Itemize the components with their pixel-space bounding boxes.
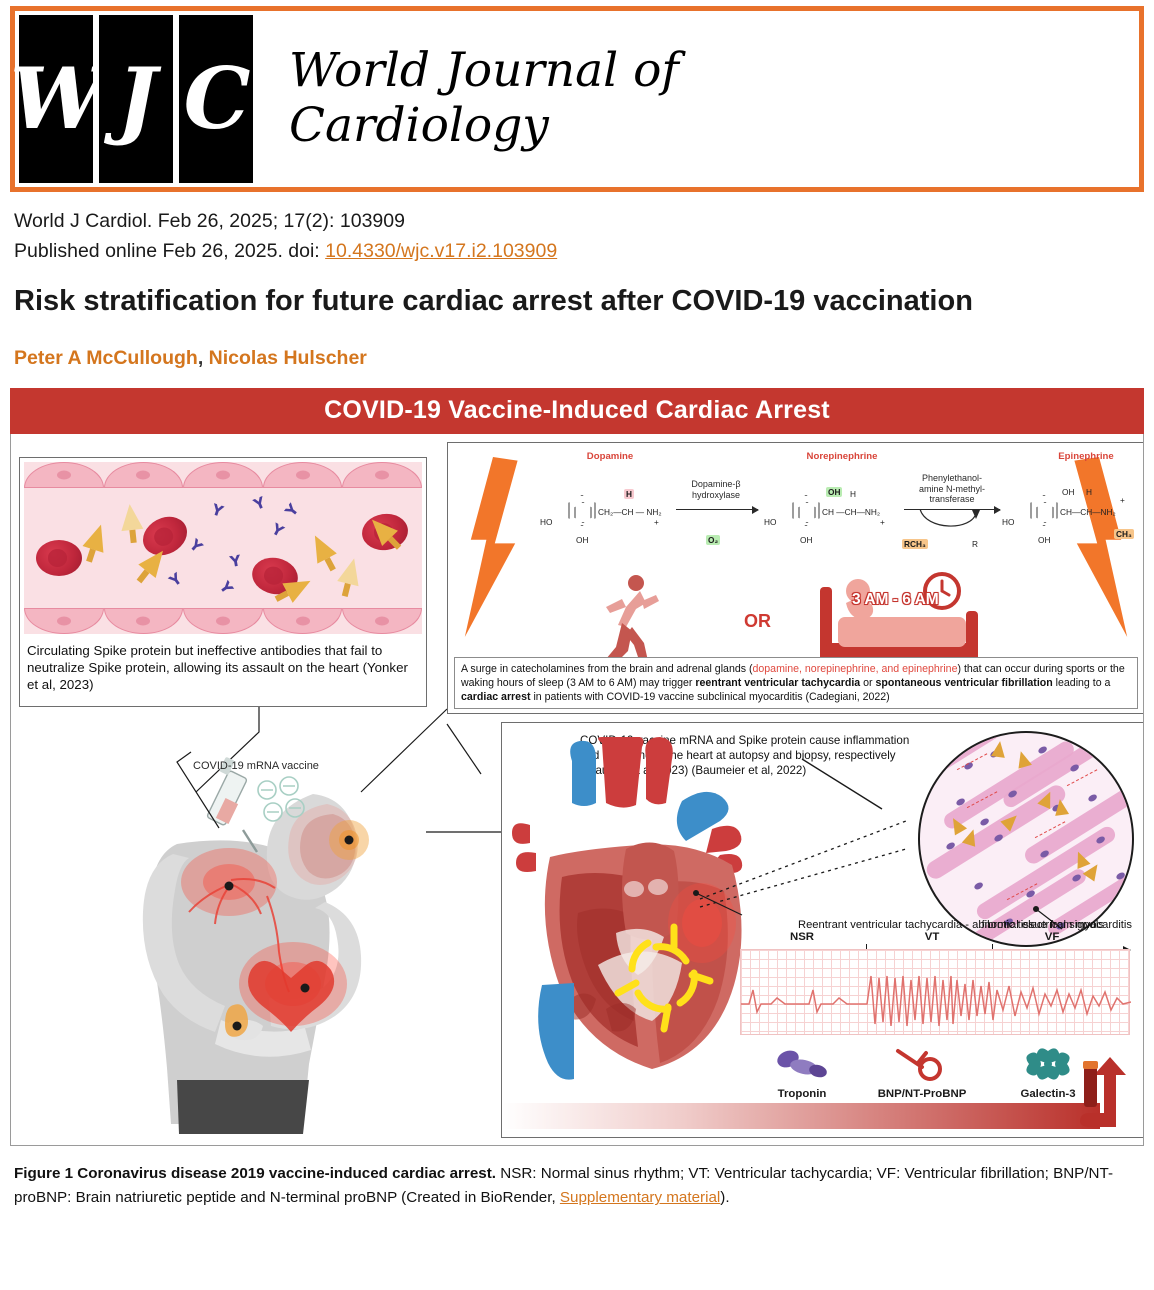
endothelium-top: [24, 462, 422, 488]
epi-ho-label: HO: [1002, 517, 1014, 527]
citation-block: World J Cardiol. Feb 26, 2025; 17(2): 10…: [14, 206, 1154, 266]
reaction-arrow-1: [676, 509, 758, 510]
substrate-rch3: RCH₃: [902, 539, 928, 549]
epi-charge: +: [1120, 495, 1125, 505]
published-prefix: Published online Feb 26, 2025. doi:: [14, 240, 325, 262]
cofactor-o2: O₂: [706, 535, 720, 545]
spike-protein: [1053, 798, 1069, 816]
journal-title-line1: World Journal of: [289, 44, 1139, 99]
molecule-label-dopamine: Dopamine: [587, 451, 633, 462]
antibody-icon: Y: [229, 553, 245, 569]
spike-protein: [305, 530, 337, 563]
figure-caption: Figure 1 Coronavirus disease 2019 vaccin…: [14, 1162, 1140, 1211]
ecg-trace-box: [740, 949, 1130, 1035]
nor-h-label: H: [850, 489, 856, 499]
published-online-line: Published online Feb 26, 2025. doi: 10.4…: [14, 236, 1154, 266]
enzyme-1: Dopamine-β hydroxylase: [691, 479, 740, 500]
author-list: Peter A McCullough, Nicolas Hulscher: [14, 347, 1154, 370]
citation-line: World J Cardiol. Feb 26, 2025; 17(2): 10…: [14, 206, 1154, 236]
catecholamine-panel-caption: A surge in catecholamines from the brain…: [454, 657, 1138, 709]
epi-oh-label: OH: [1038, 535, 1050, 545]
logo-letter-j: J: [117, 57, 155, 141]
endothelial-cell: [24, 462, 104, 488]
epi-h-top: H: [1086, 487, 1092, 497]
molecule-label-epinephrine: Epinephrine: [1058, 451, 1113, 462]
heart-cross-section-illustration: [506, 737, 806, 1089]
caption-run-normal: or: [860, 677, 875, 689]
benzene-ring: [1031, 495, 1058, 526]
spike-protein: [83, 521, 112, 553]
benzene-ring: [793, 495, 820, 526]
caption-run-normal: leading to a: [1053, 677, 1111, 689]
antibody-icon: Y: [270, 522, 289, 541]
supplementary-material-link[interactable]: Supplementary material: [560, 1189, 720, 1206]
author-link-1[interactable]: Peter A McCullough: [14, 347, 198, 369]
caption-run-bold: cardiac arrest: [461, 691, 531, 703]
cofactor-curve: [916, 509, 986, 537]
galectin-3-icon: [1023, 1047, 1073, 1081]
histology-inset-circle: [918, 731, 1134, 947]
dopamine-ho-label: HO: [540, 517, 552, 527]
endothelial-cell: [104, 462, 184, 488]
molecule-dopamine: [569, 495, 596, 526]
severity-gradient-bar: [502, 1103, 1100, 1129]
caption-run-normal: in patients with COVID-19 vaccine subcli…: [531, 691, 890, 703]
clock-time-label: 3 AM - 6 AM: [852, 591, 939, 609]
nor-oh-label: OH: [800, 535, 812, 545]
figure-caption-text-2: ).: [720, 1189, 729, 1206]
enzyme-2: Phenylethanol- amine N-methyl- transfera…: [919, 473, 985, 505]
catecholamine-pathway: Dopamine HO OH CH₂—CH — NH₂ H + Dopamine…: [520, 451, 1072, 575]
ecg-waveform: [741, 950, 1131, 1036]
vessel-illustration: Y Y Y Y Y Y Y Y: [24, 462, 422, 634]
endothelial-cell: [342, 462, 422, 488]
article-title: Risk stratification for future cardiac a…: [14, 282, 1054, 321]
logo-block-w: W: [19, 15, 93, 183]
antibody-icon: Y: [283, 499, 303, 519]
enzyme-1-line2: hydroxylase: [691, 490, 740, 501]
biomarker-label-troponin: Troponin: [742, 1088, 862, 1100]
lightning-bolt-icon: [1072, 457, 1132, 637]
patient-illustration: COVID-19 mRNA vaccine: [81, 734, 481, 1134]
caption-run-bold: reentrant ventricular tachycardia: [695, 677, 860, 689]
figure-banner-title: COVID-19 Vaccine-Induced Cardiac Arrest: [10, 388, 1144, 434]
figure-1: COVID-19 Vaccine-Induced Cardiac Arrest: [10, 388, 1144, 1146]
epi-chain: CH—CH—NH₂: [1060, 507, 1116, 517]
ecg-label-vf: VF: [1045, 931, 1060, 943]
fibrosis-marker: [1067, 769, 1099, 789]
wjc-logo: W J C: [15, 11, 253, 187]
antibody-icon: Y: [217, 579, 237, 599]
logo-letter-c: C: [184, 57, 249, 141]
biomarker-label-bnp: BNP/NT-ProBNP: [862, 1088, 982, 1100]
dopamine-oh-label: OH: [576, 535, 588, 545]
molecule-epinephrine: [1031, 495, 1058, 526]
endothelial-cell: [183, 462, 263, 488]
epi-oh-top: OH: [1062, 487, 1074, 497]
cell-nucleus: [973, 881, 984, 890]
benzene-ring: [569, 495, 596, 526]
nor-highlight-oh: OH: [826, 487, 842, 497]
journal-title: World Journal of Cardiology: [253, 11, 1139, 187]
spike-protein: [337, 556, 365, 587]
ecg-label-vt: VT: [925, 931, 940, 943]
molecule-norepinephrine: [793, 495, 820, 526]
cell-nucleus: [1087, 793, 1098, 802]
running-person-icon: [596, 573, 668, 669]
journal-title-line2: Cardiology: [289, 99, 1139, 154]
enzyme-1-line1: Dopamine-β: [691, 479, 740, 490]
vessel-panel-caption: Circulating Spike protein but ineffectiv…: [20, 638, 426, 696]
troponin-icon: [772, 1047, 832, 1081]
endothelium-bottom: [24, 608, 422, 634]
biomarker-troponin: Troponin: [742, 1047, 862, 1100]
figure-body: Y Y Y Y Y Y Y Y Circulating Spike protei…: [10, 434, 1144, 1146]
dopamine-highlight-h: H: [624, 489, 634, 499]
logo-block-c: C: [179, 15, 253, 183]
enzyme-2-line1: Phenylethanol-: [919, 473, 985, 484]
enzyme-2-line3: transferase: [919, 494, 985, 505]
panel-catecholamine-surge: Dopamine HO OH CH₂—CH — NH₂ H + Dopamine…: [447, 442, 1144, 714]
antibody-icon: Y: [252, 494, 270, 512]
biomarker-bnp: BNP/NT-ProBNP: [862, 1047, 982, 1100]
caption-run-normal: A surge in catecholamines from the brain…: [461, 663, 753, 675]
spike-protein: [119, 503, 144, 531]
spike-protein: [991, 740, 1007, 758]
panel-heart-ecg: COVID-19 vaccine mRNA and Spike protein …: [501, 722, 1144, 1138]
caption-run-bold: spontaneous ventricular fibrillation: [876, 677, 1053, 689]
enzyme-2-line2: amine N-methyl-: [919, 484, 985, 495]
antibody-icon: Y: [167, 569, 187, 589]
lightning-bolt-icon: [460, 457, 520, 637]
endothelial-cell: [342, 608, 422, 634]
antibody-icon: Y: [187, 537, 207, 557]
nor-charge: +: [880, 517, 885, 527]
journal-masthead: W J C World Journal of Cardiology: [10, 6, 1144, 192]
dopamine-chain: CH₂—CH — NH₂: [598, 507, 662, 517]
author-link-2[interactable]: Nicolas Hulscher: [209, 347, 367, 369]
nor-chain: CH —CH—NH₂: [822, 507, 880, 517]
logo-block-j: J: [99, 15, 173, 183]
patient-body-graphic: [81, 734, 481, 1134]
nor-ho-label: HO: [764, 517, 776, 527]
endothelial-cell: [104, 608, 184, 634]
dopamine-charge: +: [654, 517, 659, 527]
rising-biomarker-arrow-icon: [1078, 1051, 1132, 1129]
molecule-label-norepinephrine: Norepinephrine: [807, 451, 878, 462]
vaccine-label: COVID-19 mRNA vaccine: [193, 760, 319, 772]
doi-link[interactable]: 10.4330/wjc.v17.i2.103909: [325, 240, 557, 262]
endothelial-cell: [263, 462, 343, 488]
red-blood-cell: [36, 540, 82, 576]
logo-letter-w: W: [10, 57, 102, 141]
endothelial-cell: [263, 608, 343, 634]
author-separator: ,: [198, 347, 203, 369]
antibody-icon: Y: [210, 502, 228, 520]
sleeping-in-bed-icon: [816, 569, 986, 669]
or-label: OR: [744, 611, 771, 632]
bnp-icon: [892, 1047, 952, 1081]
figure-caption-bold: Figure 1 Coronavirus disease 2019 vaccin…: [14, 1165, 496, 1182]
epi-highlight-ch3: CH₃: [1114, 529, 1134, 539]
ecg-segment-labels: NSR VT VF: [740, 931, 1130, 949]
caption-run-red: dopamine, norepinephrine, and epinephrin…: [753, 663, 958, 675]
panel-circulating-spike: Y Y Y Y Y Y Y Y Circulating Spike protei…: [19, 457, 427, 707]
cell-nucleus: [1103, 753, 1114, 762]
product-r: R: [972, 539, 978, 549]
endothelial-cell: [183, 608, 263, 634]
ecg-label-nsr: NSR: [790, 931, 814, 943]
endothelial-cell: [24, 608, 104, 634]
